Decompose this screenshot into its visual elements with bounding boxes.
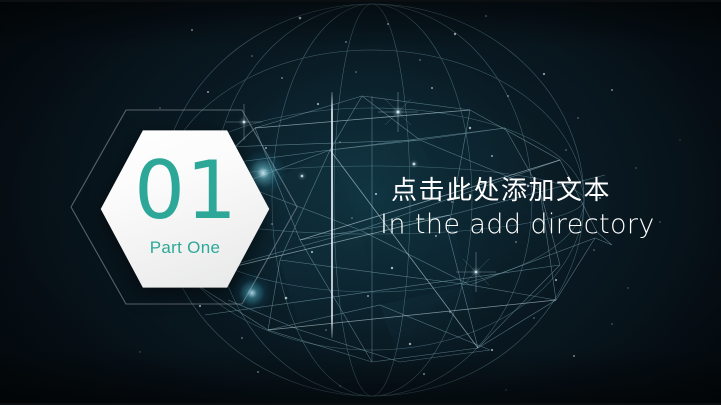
heading-text-block: 点击此处添加文本 In the add directory [380, 176, 680, 240]
section-badge-hexagon[interactable]: 01 Part One [99, 128, 271, 290]
heading-english: In the add directory [380, 209, 680, 240]
heading-chinese: 点击此处添加文本 [391, 176, 680, 207]
slide-top-edge [0, 0, 721, 2]
slide-canvas: 01 Part One 点击此处添加文本 In the add director… [0, 0, 721, 405]
section-subtitle: Part One [150, 238, 220, 258]
vertical-divider [331, 92, 333, 338]
section-number: 01 [134, 154, 238, 228]
